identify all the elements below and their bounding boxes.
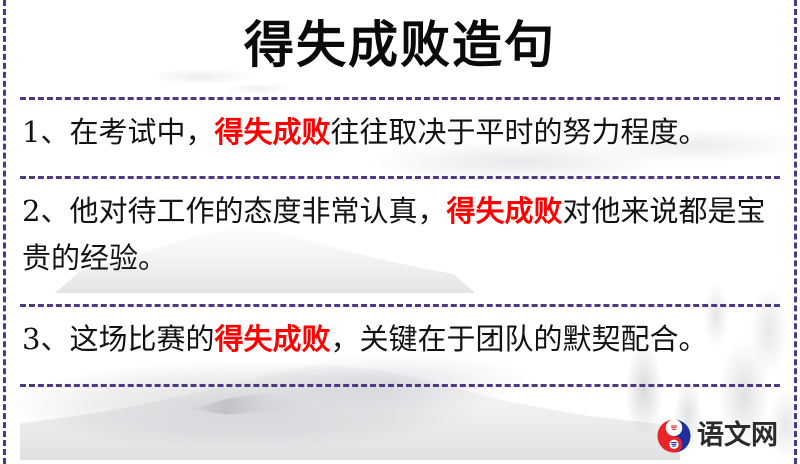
sentence-item-2: 2、他对待工作的态度非常认真，得失成败对他来说都是宝贵的经验。: [16, 179, 784, 282]
sentence-text-before-2: 他对待工作的态度非常认真，: [69, 194, 446, 228]
sentence-text-before-3: 这场比赛的: [69, 322, 214, 356]
slide-page: 得失成败造句 1、在考试中，得失成败往往取决于平时的努力程度。 2、他对待工作的…: [0, 0, 800, 464]
frame-dashed-rule-left: [3, 0, 6, 464]
sentence-number-1: 1、: [22, 115, 69, 149]
keyword-highlight-3: 得失成败: [214, 322, 330, 356]
sentence-number-3: 3、: [22, 322, 69, 356]
watermark: 语文网: [656, 418, 778, 454]
sentence-text-after-3: ，关键在于团队的默契配合。: [330, 322, 707, 356]
sentence-number-2: 2、: [22, 194, 69, 228]
keyword-highlight-1: 得失成败: [214, 115, 330, 149]
divider-bottom: [20, 384, 780, 387]
yuwen-circle-logo-icon: [656, 418, 692, 454]
sentence-text-before-1: 在考试中，: [69, 115, 214, 149]
sentence-item-1: 1、在考试中，得失成败往往取决于平时的努力程度。: [16, 100, 784, 156]
watermark-text: 语文网: [697, 421, 778, 451]
keyword-highlight-2: 得失成败: [446, 194, 562, 228]
content-area: 得失成败造句 1、在考试中，得失成败往往取决于平时的努力程度。 2、他对待工作的…: [0, 0, 800, 464]
frame-dashed-rule-right: [794, 0, 797, 464]
sentence-item-3: 3、这场比赛的得失成败，关键在于团队的默契配合。: [16, 307, 784, 363]
page-title: 得失成败造句: [16, 0, 784, 76]
sentence-text-after-1: 往往取决于平时的努力程度。: [330, 115, 707, 149]
